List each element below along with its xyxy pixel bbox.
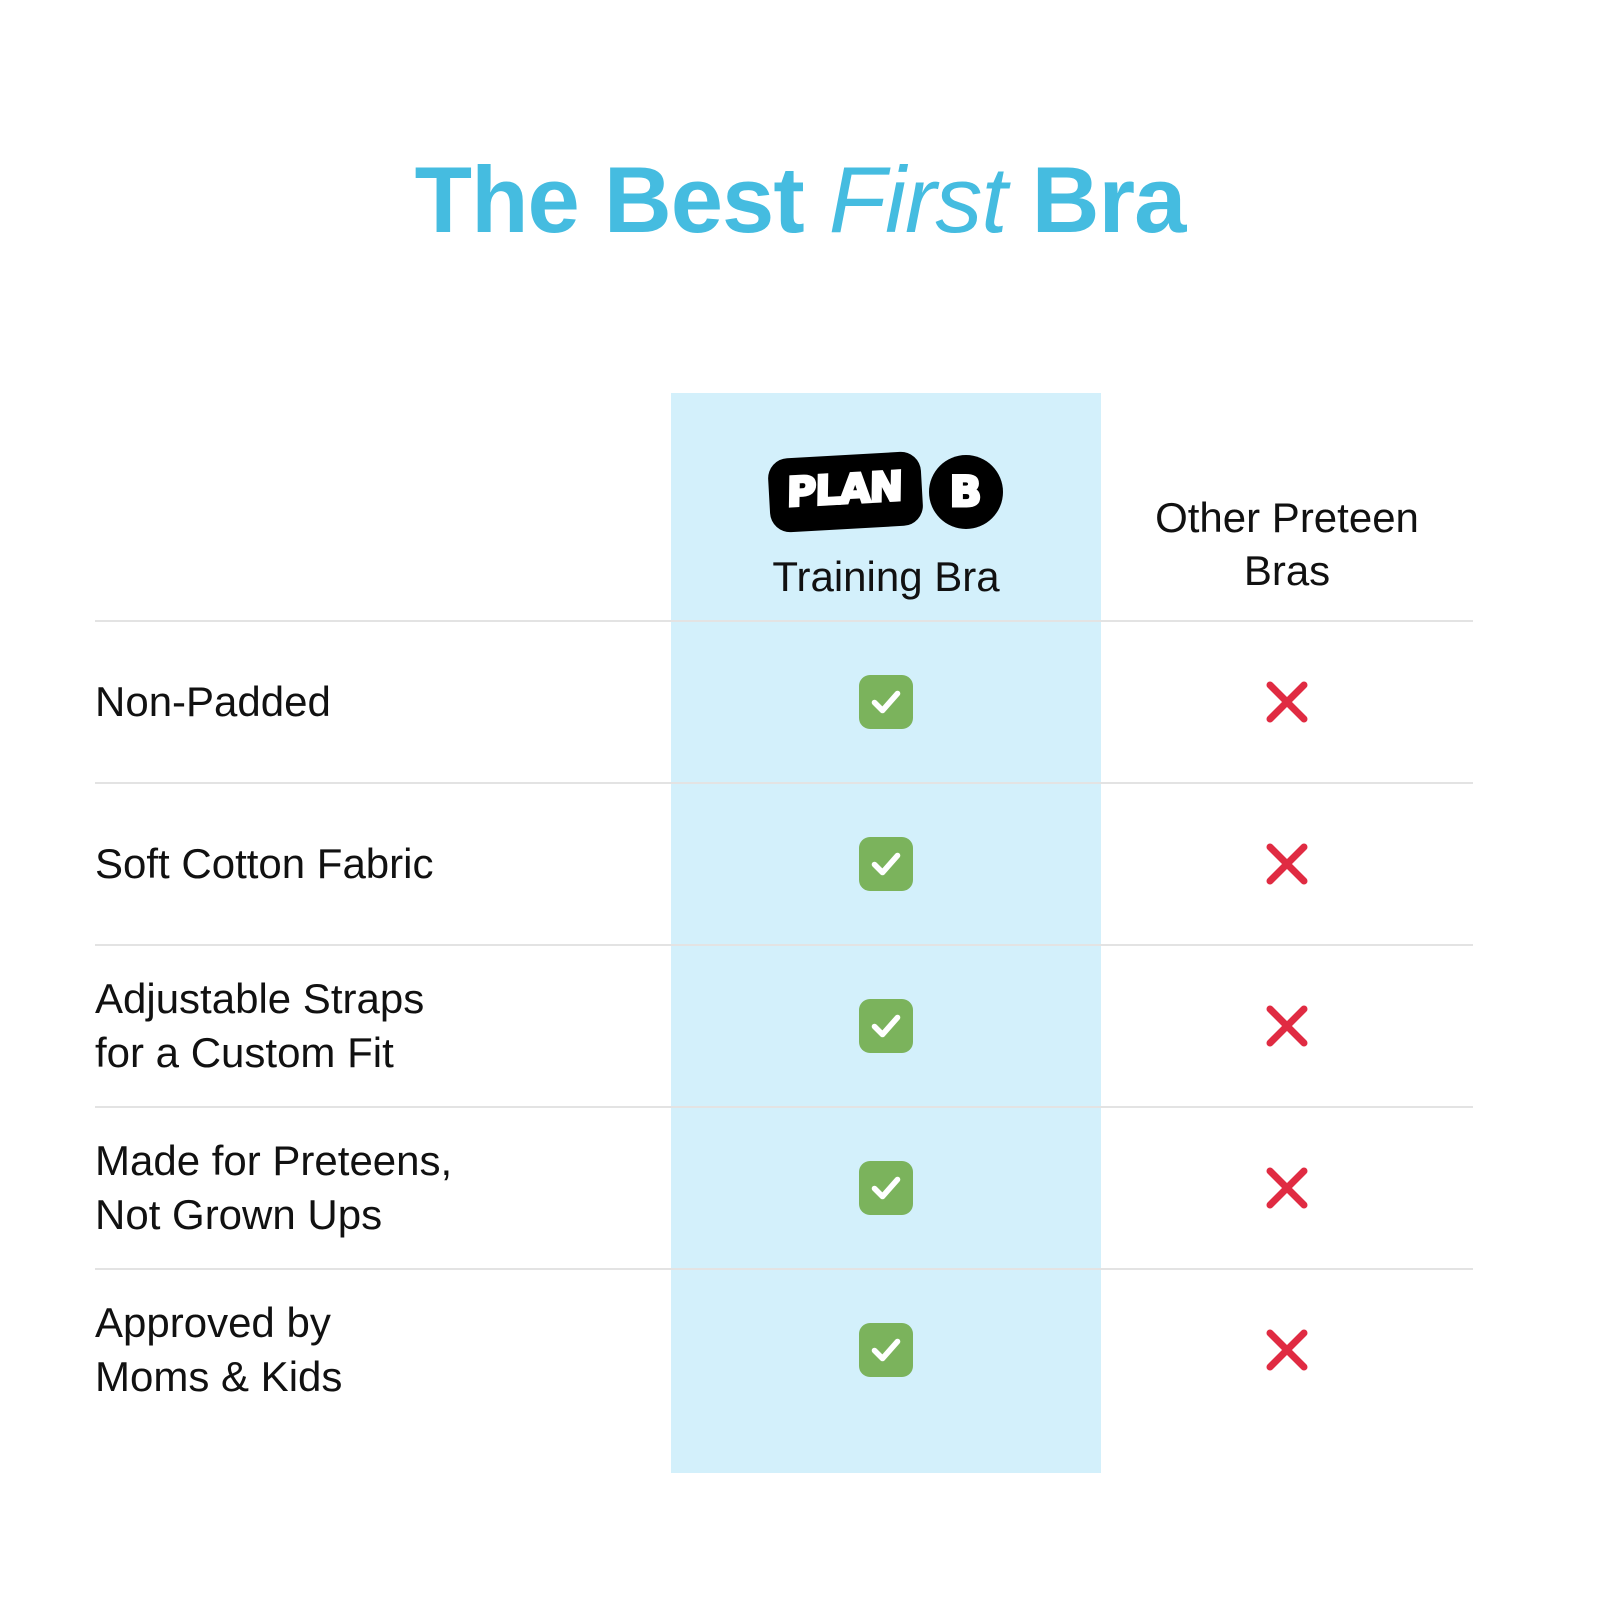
page-title-part-italic: First: [829, 147, 1007, 252]
other-cell: [1101, 674, 1473, 730]
other-cell: [1101, 836, 1473, 892]
table-header-row: PLAN B Training Bra Other Preteen Bras: [95, 393, 1473, 620]
feature-label-line1: Made for Preteens,: [95, 1134, 651, 1188]
table-row: Soft Cotton Fabric: [95, 782, 1473, 944]
cross-icon: [1259, 1322, 1315, 1378]
feature-label: Non-Padded: [95, 675, 671, 729]
feature-label-line2: for a Custom Fit: [95, 1026, 651, 1080]
check-icon: [859, 999, 913, 1053]
table-row: Non-Padded: [95, 620, 1473, 782]
cross-icon: [1259, 1160, 1315, 1216]
other-cell: [1101, 1160, 1473, 1216]
cross-icon: [1259, 836, 1315, 892]
check-icon: [859, 1323, 913, 1377]
b-circle-label: B: [950, 471, 982, 513]
feature-label-line1: Adjustable Straps: [95, 972, 651, 1026]
page-title-part-1: The Best: [415, 147, 829, 252]
check-icon: [859, 837, 913, 891]
feature-label-line1: Non-Padded: [95, 675, 651, 729]
plan-b-cell: [671, 837, 1101, 891]
feature-label-line2: Moms & Kids: [95, 1350, 651, 1404]
header-other-column: Other Preteen Bras: [1101, 491, 1473, 621]
plan-b-cell: [671, 1161, 1101, 1215]
plan-badge-label: PLAN: [787, 466, 903, 513]
feature-label-line2: Not Grown Ups: [95, 1188, 651, 1242]
plan-b-logo: PLAN B: [671, 444, 1101, 540]
page-title-part-3: Bra: [1006, 147, 1185, 252]
cross-icon: [1259, 674, 1315, 730]
feature-label: Soft Cotton Fabric: [95, 837, 671, 891]
feature-label: Approved by Moms & Kids: [95, 1296, 671, 1404]
table-row: Made for Preteens, Not Grown Ups: [95, 1106, 1473, 1268]
table-row: Approved by Moms & Kids: [95, 1268, 1473, 1430]
plan-badge-icon: PLAN: [767, 450, 924, 532]
cross-icon: [1259, 998, 1315, 1054]
plan-b-column-subtitle: Training Bra: [671, 552, 1101, 602]
check-icon: [859, 675, 913, 729]
plan-b-cell: [671, 1323, 1101, 1377]
header-plan-b-column: PLAN B Training Bra: [671, 444, 1101, 620]
feature-label: Adjustable Straps for a Custom Fit: [95, 972, 671, 1080]
feature-label-line1: Soft Cotton Fabric: [95, 837, 651, 891]
plan-b-cell: [671, 675, 1101, 729]
table-row: Adjustable Straps for a Custom Fit: [95, 944, 1473, 1106]
comparison-chart-page: The Best First Bra PLAN B Training B: [0, 0, 1600, 1600]
comparison-table: PLAN B Training Bra Other Preteen Bras: [95, 393, 1473, 1430]
b-circle-icon: B: [929, 455, 1003, 529]
other-cell: [1101, 1322, 1473, 1378]
other-column-label-line2: Bras: [1101, 544, 1473, 598]
feature-label-line1: Approved by: [95, 1296, 651, 1350]
check-icon: [859, 1161, 913, 1215]
plan-b-cell: [671, 999, 1101, 1053]
feature-label: Made for Preteens, Not Grown Ups: [95, 1134, 671, 1242]
other-column-label-line1: Other Preteen: [1101, 491, 1473, 545]
other-cell: [1101, 998, 1473, 1054]
page-title: The Best First Bra: [0, 148, 1600, 251]
